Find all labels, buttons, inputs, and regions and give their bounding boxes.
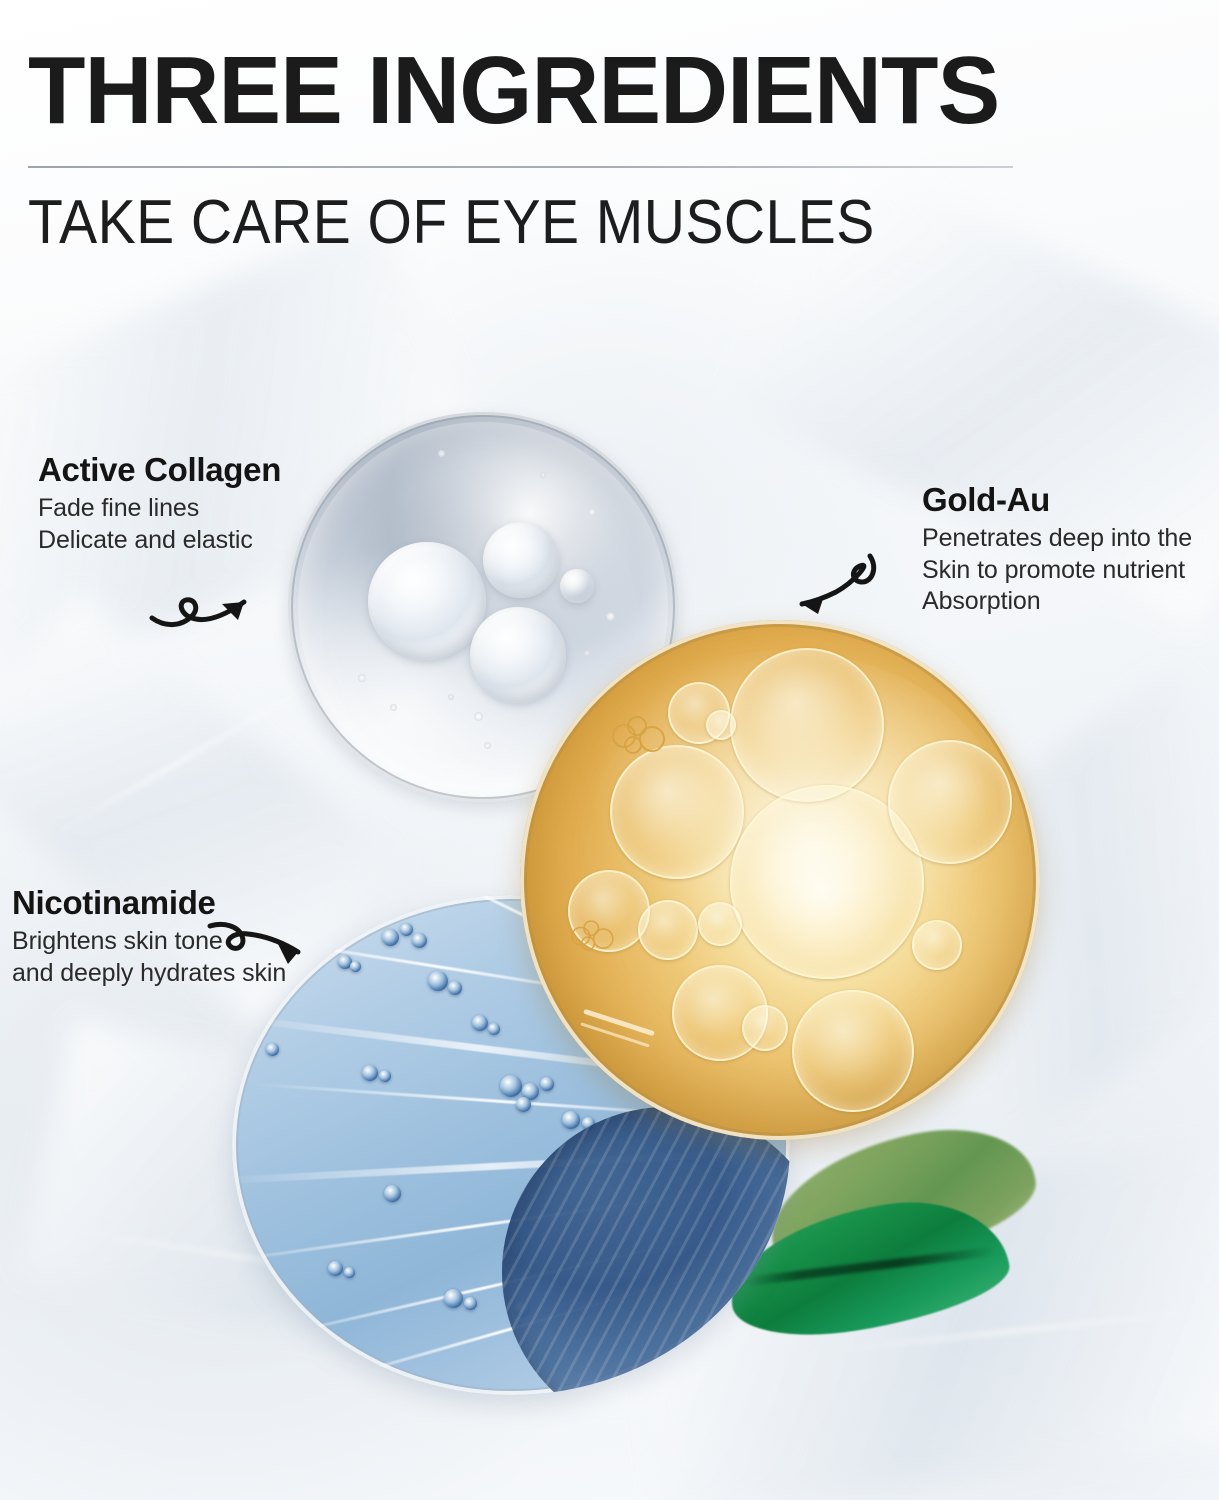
water-droplet [483, 522, 559, 598]
page-title: THREE INGREDIENTS [28, 42, 1008, 140]
oil-bubble [792, 990, 914, 1112]
ingredient-name: Active Collagen [38, 452, 281, 489]
micro-bubble [438, 450, 445, 457]
ingredient-label-gold-au: Gold-Au Penetrates deep into the Skin to… [922, 482, 1204, 618]
water-droplet [560, 569, 594, 603]
micro-bubble [584, 650, 590, 656]
micro-bubble [390, 704, 397, 711]
ingredient-label-active-collagen: Active Collagen Fade fine lines Delicate… [38, 452, 281, 556]
oil-bubble [698, 902, 742, 946]
gold-essence-disc [520, 620, 1040, 1140]
oil-bubble [742, 1005, 788, 1051]
ingredient-description-line1: Penetrates deep into the [922, 523, 1204, 555]
header: THREE INGREDIENTS TAKE CARE OF EYE MUSCL… [28, 42, 1028, 255]
oil-bubble-cluster [612, 716, 664, 758]
gold-streak [583, 1009, 655, 1037]
micro-bubble [448, 694, 454, 700]
water-droplet [368, 542, 486, 660]
micro-bubble [588, 508, 596, 516]
ingredient-description-line1: Fade fine lines [38, 493, 281, 525]
oil-bubble [888, 740, 1012, 864]
water-droplet [470, 607, 566, 703]
curly-arrow-right-icon [206, 902, 326, 987]
micro-bubble [606, 612, 615, 621]
ingredient-name: Gold-Au [922, 482, 1204, 519]
oil-bubble [730, 648, 884, 802]
micro-bubble [358, 674, 366, 682]
oil-bubble-cluster [571, 920, 613, 954]
curly-arrow-right-icon [148, 566, 278, 651]
micro-bubble [474, 712, 483, 721]
title-divider [28, 166, 1013, 168]
curly-arrow-left-icon [782, 542, 892, 627]
oil-bubble [610, 745, 744, 879]
micro-bubble [484, 742, 491, 749]
blue-crescent-highlight [502, 1107, 790, 1395]
oil-bubble [912, 920, 962, 970]
ingredient-description-line2: Delicate and elastic [38, 525, 281, 557]
micro-bubble [540, 472, 546, 478]
oil-bubble [638, 900, 698, 960]
oil-bubble [706, 710, 736, 740]
page-subtitle: TAKE CARE OF EYE MUSCLES [28, 190, 948, 255]
product-ingredient-infographic: THREE INGREDIENTS TAKE CARE OF EYE MUSCL… [0, 0, 1219, 1500]
ingredient-description-line2: Skin to promote nutrient [922, 555, 1204, 587]
ingredient-description-line3: Absorption [922, 586, 1204, 618]
